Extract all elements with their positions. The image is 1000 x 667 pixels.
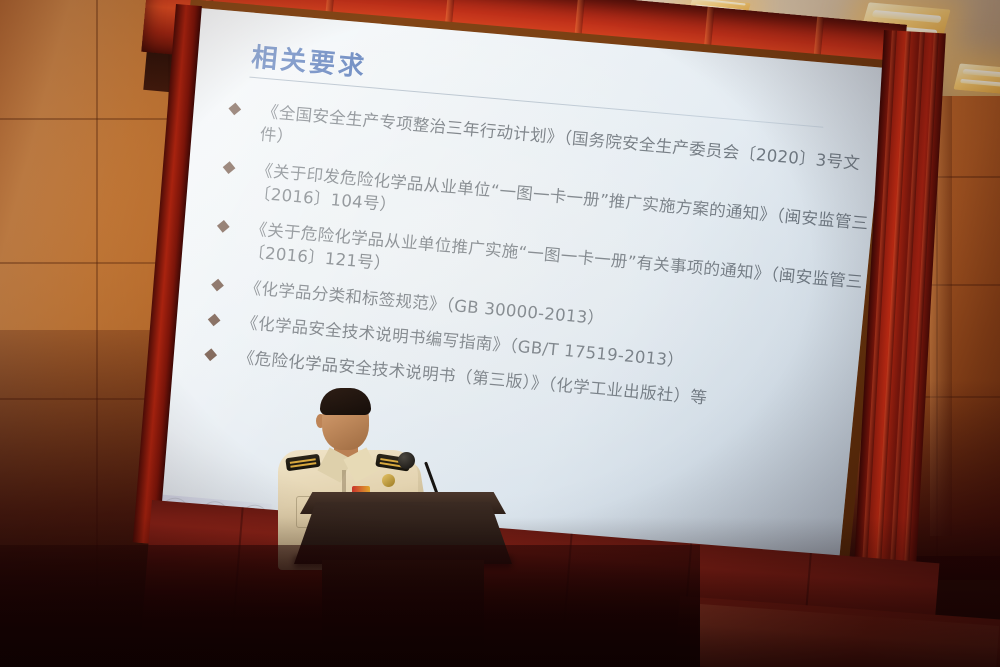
diamond-bullet-icon bbox=[223, 161, 236, 174]
uniform-shoulder-insignia bbox=[382, 474, 395, 487]
presentation-hall-photo: 相关要求 《全国安全生产专项整治三年行动计划》（国务院安全生产委员会〔2020〕… bbox=[0, 0, 1000, 667]
projection-screen: 相关要求 《全国安全生产专项整治三年行动计划》（国务院安全生产委员会〔2020〕… bbox=[148, 8, 887, 596]
slide-bullet-list: 《全国安全生产专项整治三年行动计划》（国务院安全生产委员会〔2020〕3号文件）… bbox=[198, 97, 883, 436]
microphone-icon bbox=[398, 452, 415, 469]
diamond-bullet-icon bbox=[204, 349, 217, 362]
diamond-bullet-icon bbox=[217, 220, 230, 233]
diamond-bullet-icon bbox=[228, 103, 241, 116]
diamond-bullet-icon bbox=[208, 314, 221, 327]
slide-surface: 相关要求 《全国安全生产专项整治三年行动计划》（国务院安全生产委员会〔2020〕… bbox=[148, 8, 887, 596]
foreground-shadow bbox=[0, 545, 700, 667]
diamond-bullet-icon bbox=[211, 278, 224, 291]
slide-title: 相关要求 bbox=[250, 37, 369, 84]
speaker-hair bbox=[320, 388, 371, 415]
ceiling-light-icon bbox=[953, 63, 1000, 94]
